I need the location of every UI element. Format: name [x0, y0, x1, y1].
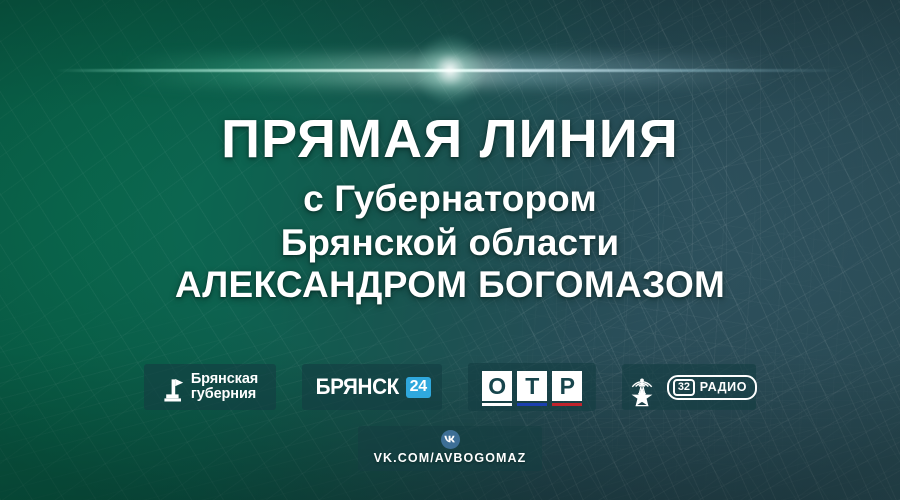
logo-guberniya-line-2: губерния — [191, 387, 258, 402]
headline-block: ПРЯМАЯ ЛИНИЯ с Губернатором Брянской обл… — [0, 112, 900, 307]
logo-bryanskaya-guberniya[interactable]: Брянская губерния — [144, 364, 276, 410]
logo-otr-square-o: О — [482, 371, 512, 401]
logo-guberniya-line-1: Брянская — [191, 372, 258, 387]
logo-otr-bar-red — [552, 403, 582, 406]
lens-flare-glow — [120, 56, 780, 86]
logo-otr-square-r: Р — [552, 371, 582, 401]
logo-bryanskaya-guberniya-text: Брянская губерния — [191, 372, 258, 402]
lens-flare-core — [412, 32, 488, 108]
vk-glyph-icon — [444, 435, 457, 444]
logo-radio-32-word: РАДИО — [700, 380, 747, 394]
governor-name: АЛЕКСАНДРОМ БОГОМАЗОМ — [0, 264, 900, 306]
subtitle-line-1: с Губернатором — [0, 177, 900, 221]
vk-logo-icon[interactable] — [441, 430, 460, 449]
sponsor-logo-strip: Брянская губерния БРЯНСК 24 О Т Р — [0, 363, 900, 411]
logo-otr-bar-white — [482, 403, 512, 406]
vk-badge[interactable]: VK.COM/AVBOGOMAZ — [0, 425, 900, 471]
logo-radio-32-pill: 32 РАДИО — [667, 375, 757, 400]
lens-flare — [0, 70, 900, 71]
broadcast-announcement-banner: ПРЯМАЯ ЛИНИЯ с Губернатором Брянской обл… — [0, 0, 900, 500]
logo-radio-32-number: 32 — [673, 379, 695, 396]
page-title: ПРЯМАЯ ЛИНИЯ — [0, 112, 900, 167]
radio-tower-star-icon — [621, 367, 663, 407]
logo-bryansk-24[interactable]: БРЯНСК 24 — [302, 364, 442, 410]
subtitle: с Губернатором Брянской области — [0, 177, 900, 264]
logo-otr-square-t: Т — [517, 371, 547, 401]
obelisk-monument-icon — [162, 372, 184, 402]
subtitle-line-2: Брянской области — [0, 221, 900, 265]
vk-url-text: VK.COM/AVBOGOMAZ — [374, 451, 527, 465]
logo-otr-letter-r: Р — [552, 371, 582, 406]
lens-flare-beam — [55, 69, 845, 72]
vk-badge-plate[interactable]: VK.COM/AVBOGOMAZ — [358, 426, 543, 471]
logo-bryansk-24-word: БРЯНСК — [316, 374, 399, 400]
logo-bryansk-24-badge: 24 — [406, 377, 431, 398]
logo-otr-bar-blue — [517, 403, 547, 406]
logo-otr-letter-o: О — [482, 371, 512, 406]
logo-otr[interactable]: О Т Р — [468, 363, 596, 411]
logo-otr-letter-t: Т — [517, 371, 547, 406]
logo-radio-32[interactable]: 32 РАДИО — [622, 364, 756, 410]
